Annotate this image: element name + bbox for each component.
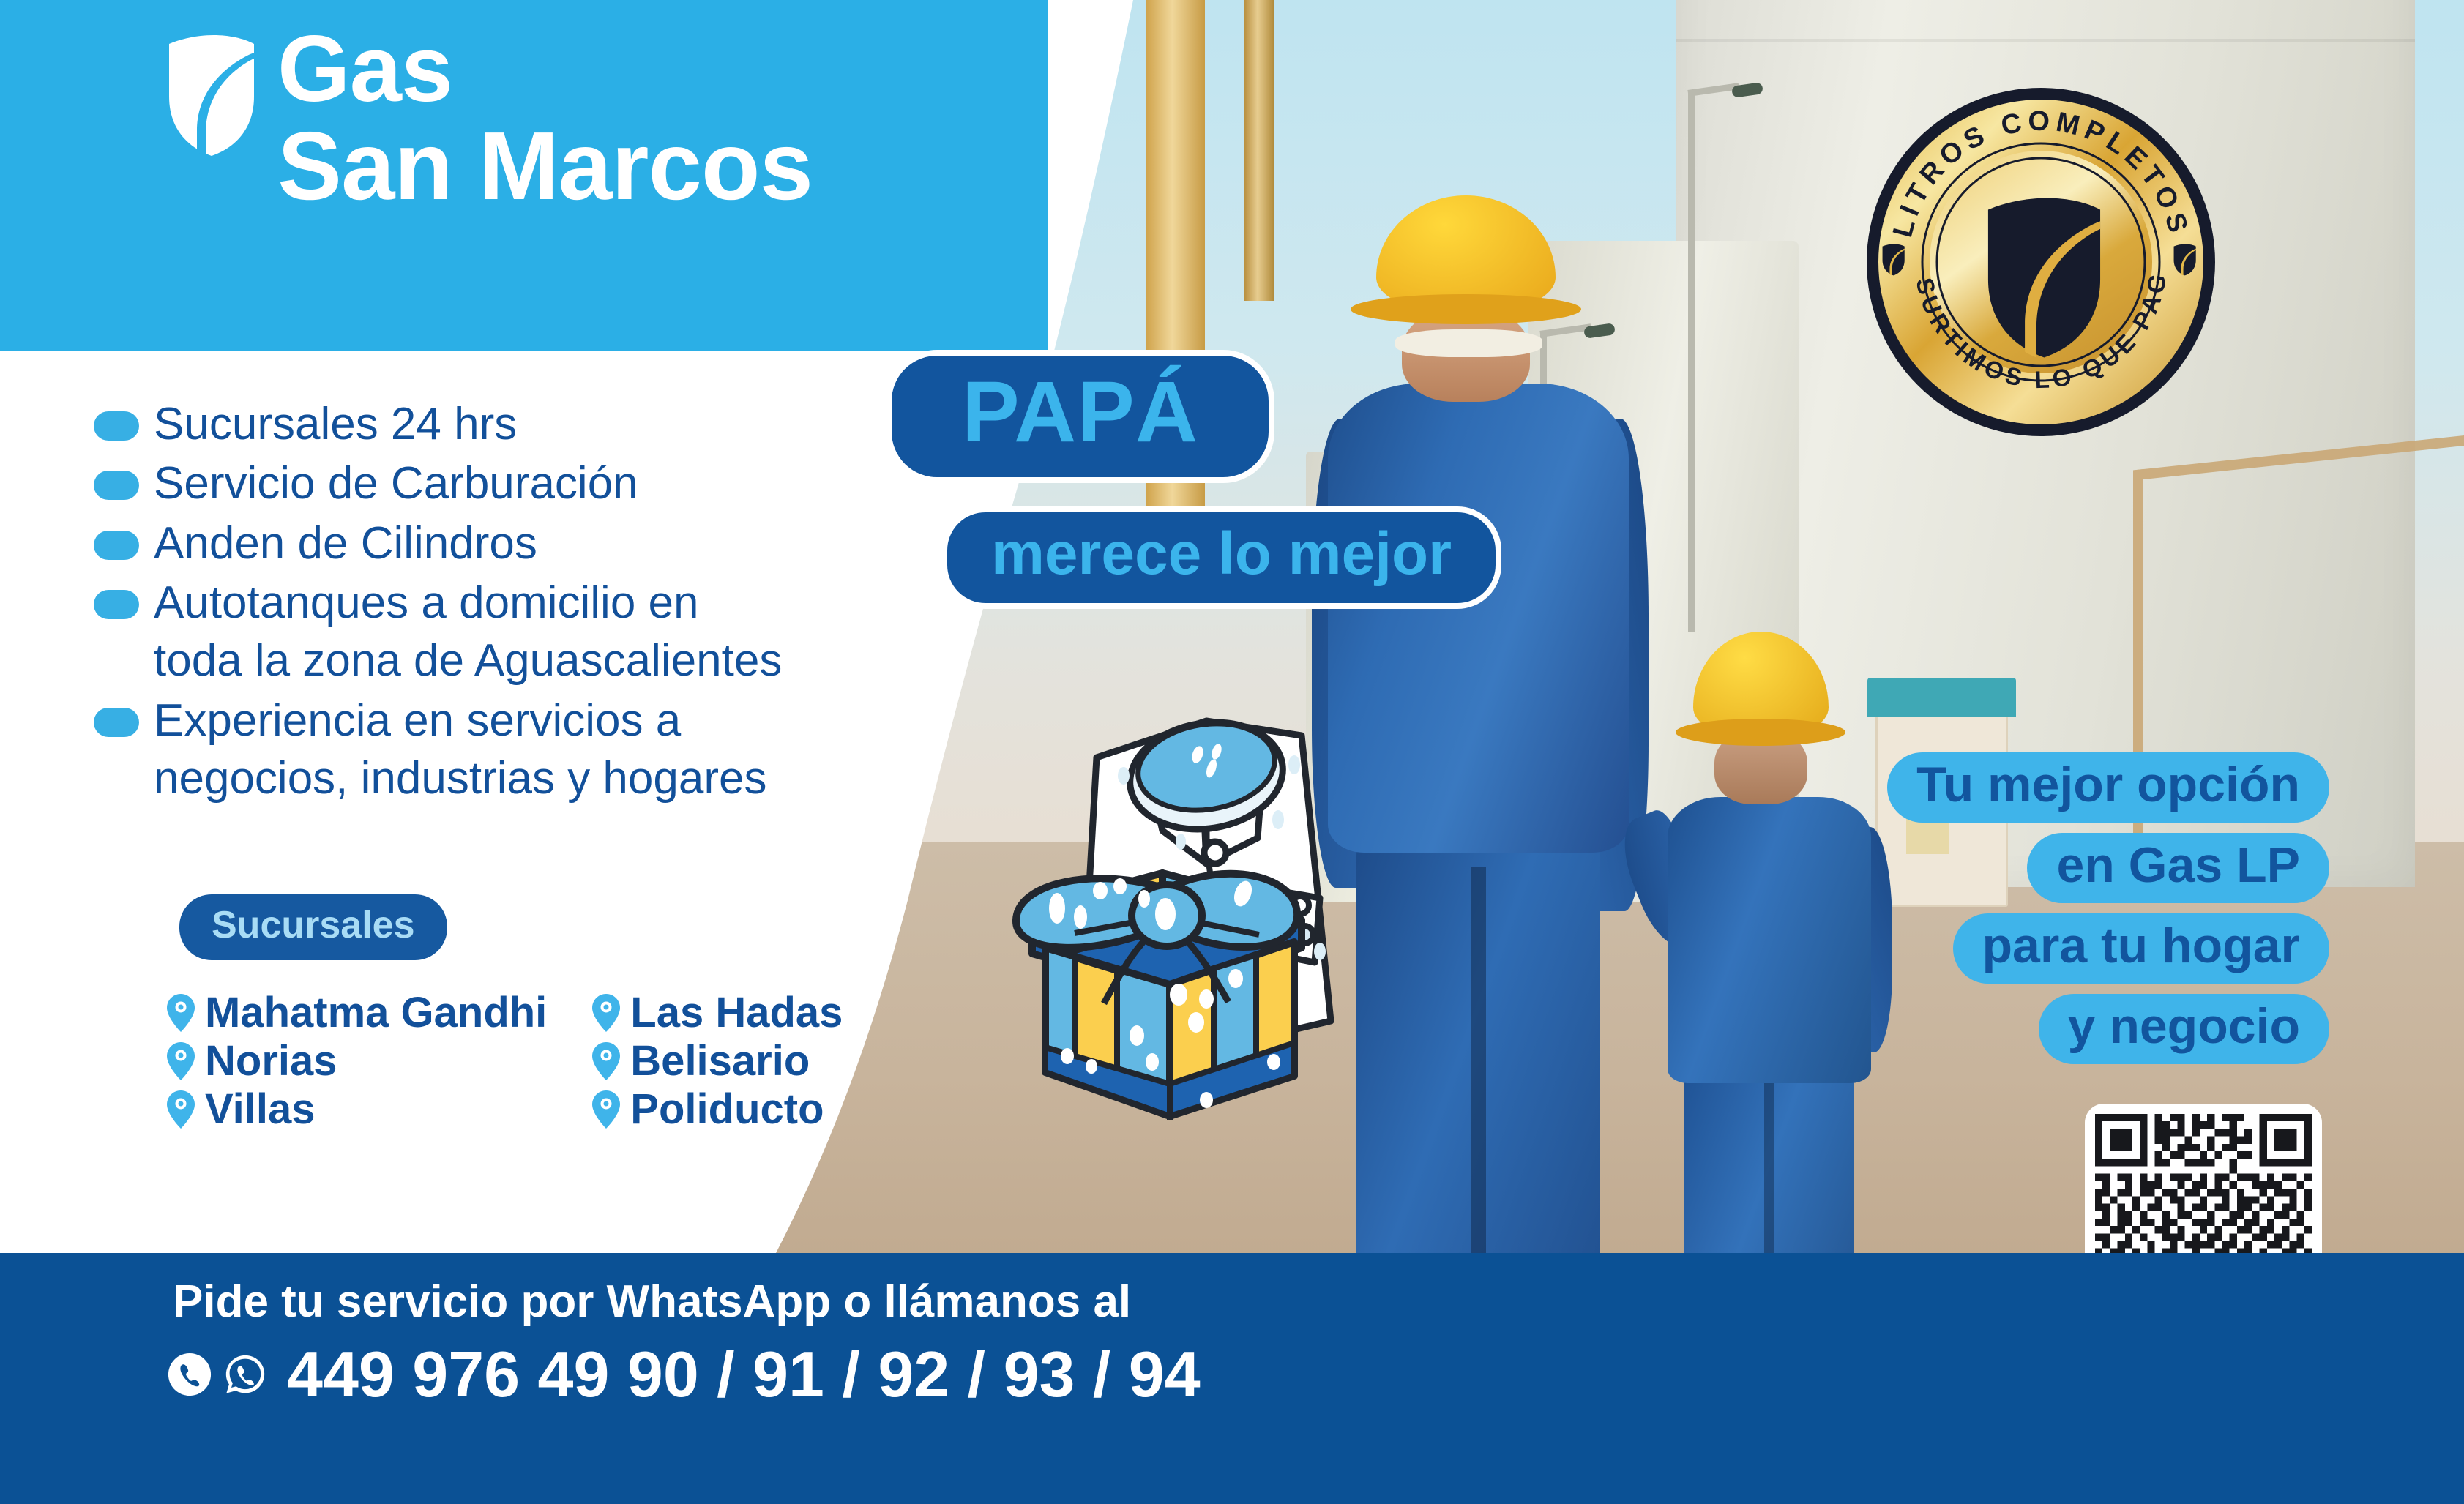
bullet-dot-icon (94, 708, 139, 737)
whatsapp-icon[interactable] (223, 1352, 268, 1397)
branches-column-left: Mahatma Gandhi Norias Villas (167, 992, 547, 1131)
feature-item: Autotanques a domicilio en toda la zona … (94, 574, 1038, 690)
litros-completos-seal: LITROS COMPLETOS TE SURTIMOS LO QUE PAGA… (1865, 86, 2217, 438)
headline-primary-badge: PAPÁ (886, 350, 1274, 483)
branch-label: Las Hadas (630, 992, 843, 1034)
branch-label: Villas (205, 1088, 316, 1131)
bullet-dot-icon (94, 471, 139, 500)
feature-text: Anden de Cilindros (154, 515, 537, 572)
branch-label: Belisario (630, 1040, 810, 1082)
street-lamp-1 (1688, 90, 1695, 632)
value-pill: en Gas LP (2027, 833, 2329, 903)
value-proposition-pills: Tu mejor opción en Gas LP para tu hogar … (1887, 752, 2329, 1064)
branch-item[interactable]: Norias (167, 1040, 547, 1082)
feature-text: Autotanques a domicilio en toda la zona … (154, 574, 782, 690)
feature-item: Anden de Cilindros (94, 515, 1038, 572)
bullet-dot-icon (94, 590, 139, 619)
value-pill-text: en Gas LP (2056, 837, 2300, 893)
branch-label: Mahatma Gandhi (205, 992, 547, 1034)
shield-leaf-logo-icon (165, 34, 258, 157)
brand-line-2: San Marcos (277, 120, 813, 212)
brand-lockup: Gas San Marcos (165, 25, 813, 212)
phone-icon[interactable] (167, 1352, 212, 1397)
feature-text: Experiencia en servicios a negocios, ind… (154, 692, 766, 808)
pipe-column-yellow-secondary (1244, 0, 1274, 301)
footer-cta-text: Pide tu servicio por WhatsApp o llámanos… (173, 1279, 1131, 1325)
feature-item: Experiencia en servicios a negocios, ind… (94, 692, 1038, 808)
bullet-dot-icon (94, 411, 139, 441)
branch-item[interactable]: Belisario (592, 1040, 843, 1082)
branch-item[interactable]: Las Hadas (592, 992, 843, 1034)
feature-text: Servicio de Carburación (154, 454, 638, 512)
branches-column-right: Las Hadas Belisario Poliducto (592, 992, 843, 1131)
map-pin-icon (167, 1042, 195, 1080)
branch-label: Norias (205, 1040, 337, 1082)
value-pill: para tu hogar (1953, 913, 2330, 984)
branch-item[interactable]: Mahatma Gandhi (167, 992, 547, 1034)
gift-and-shirt-illustration (987, 706, 1426, 1145)
headline-secondary-text: merece lo mejor (991, 520, 1452, 587)
headline-primary-text: PAPÁ (962, 364, 1198, 460)
map-pin-icon (592, 994, 620, 1032)
value-pill-text: y negocio (2068, 998, 2300, 1054)
pipe-column-yellow (1146, 0, 1205, 572)
footer-phone-number[interactable]: 449 976 49 90 / 91 / 92 / 93 / 94 (287, 1342, 1201, 1407)
branches-columns: Mahatma Gandhi Norias Villas Las Hadas B… (167, 992, 843, 1131)
branch-label: Poliducto (630, 1088, 824, 1131)
value-pill-text: Tu mejor opción (1916, 757, 2300, 812)
branch-item[interactable]: Poliducto (592, 1088, 843, 1131)
value-pill: Tu mejor opción (1887, 752, 2329, 823)
footer-bar: Pide tu servicio por WhatsApp o llámanos… (0, 1253, 2464, 1504)
branches-badge: Sucursales (179, 894, 447, 960)
brand-header-band: Gas San Marcos (0, 0, 1048, 351)
feature-text: Sucursales 24 hrs (154, 395, 517, 453)
map-pin-icon (167, 1090, 195, 1129)
map-pin-icon (592, 1090, 620, 1129)
value-pill-text: para tu hogar (1982, 918, 2301, 973)
footer-contact-row: 449 976 49 90 / 91 / 92 / 93 / 94 (167, 1342, 1201, 1407)
brand-line-1: Gas (277, 25, 813, 114)
value-pill: y negocio (2039, 994, 2329, 1064)
headline-secondary-badge: merece lo mejor (941, 506, 1501, 609)
gift-box-illustration (1016, 873, 1302, 1116)
map-pin-icon (592, 1042, 620, 1080)
advertisement-poster: Gas San Marcos Sucursales 24 hrs Servici… (0, 0, 2464, 1504)
brand-name: Gas San Marcos (277, 25, 813, 212)
map-pin-icon (167, 994, 195, 1032)
bullet-dot-icon (94, 531, 139, 560)
branch-item[interactable]: Villas (167, 1088, 547, 1131)
